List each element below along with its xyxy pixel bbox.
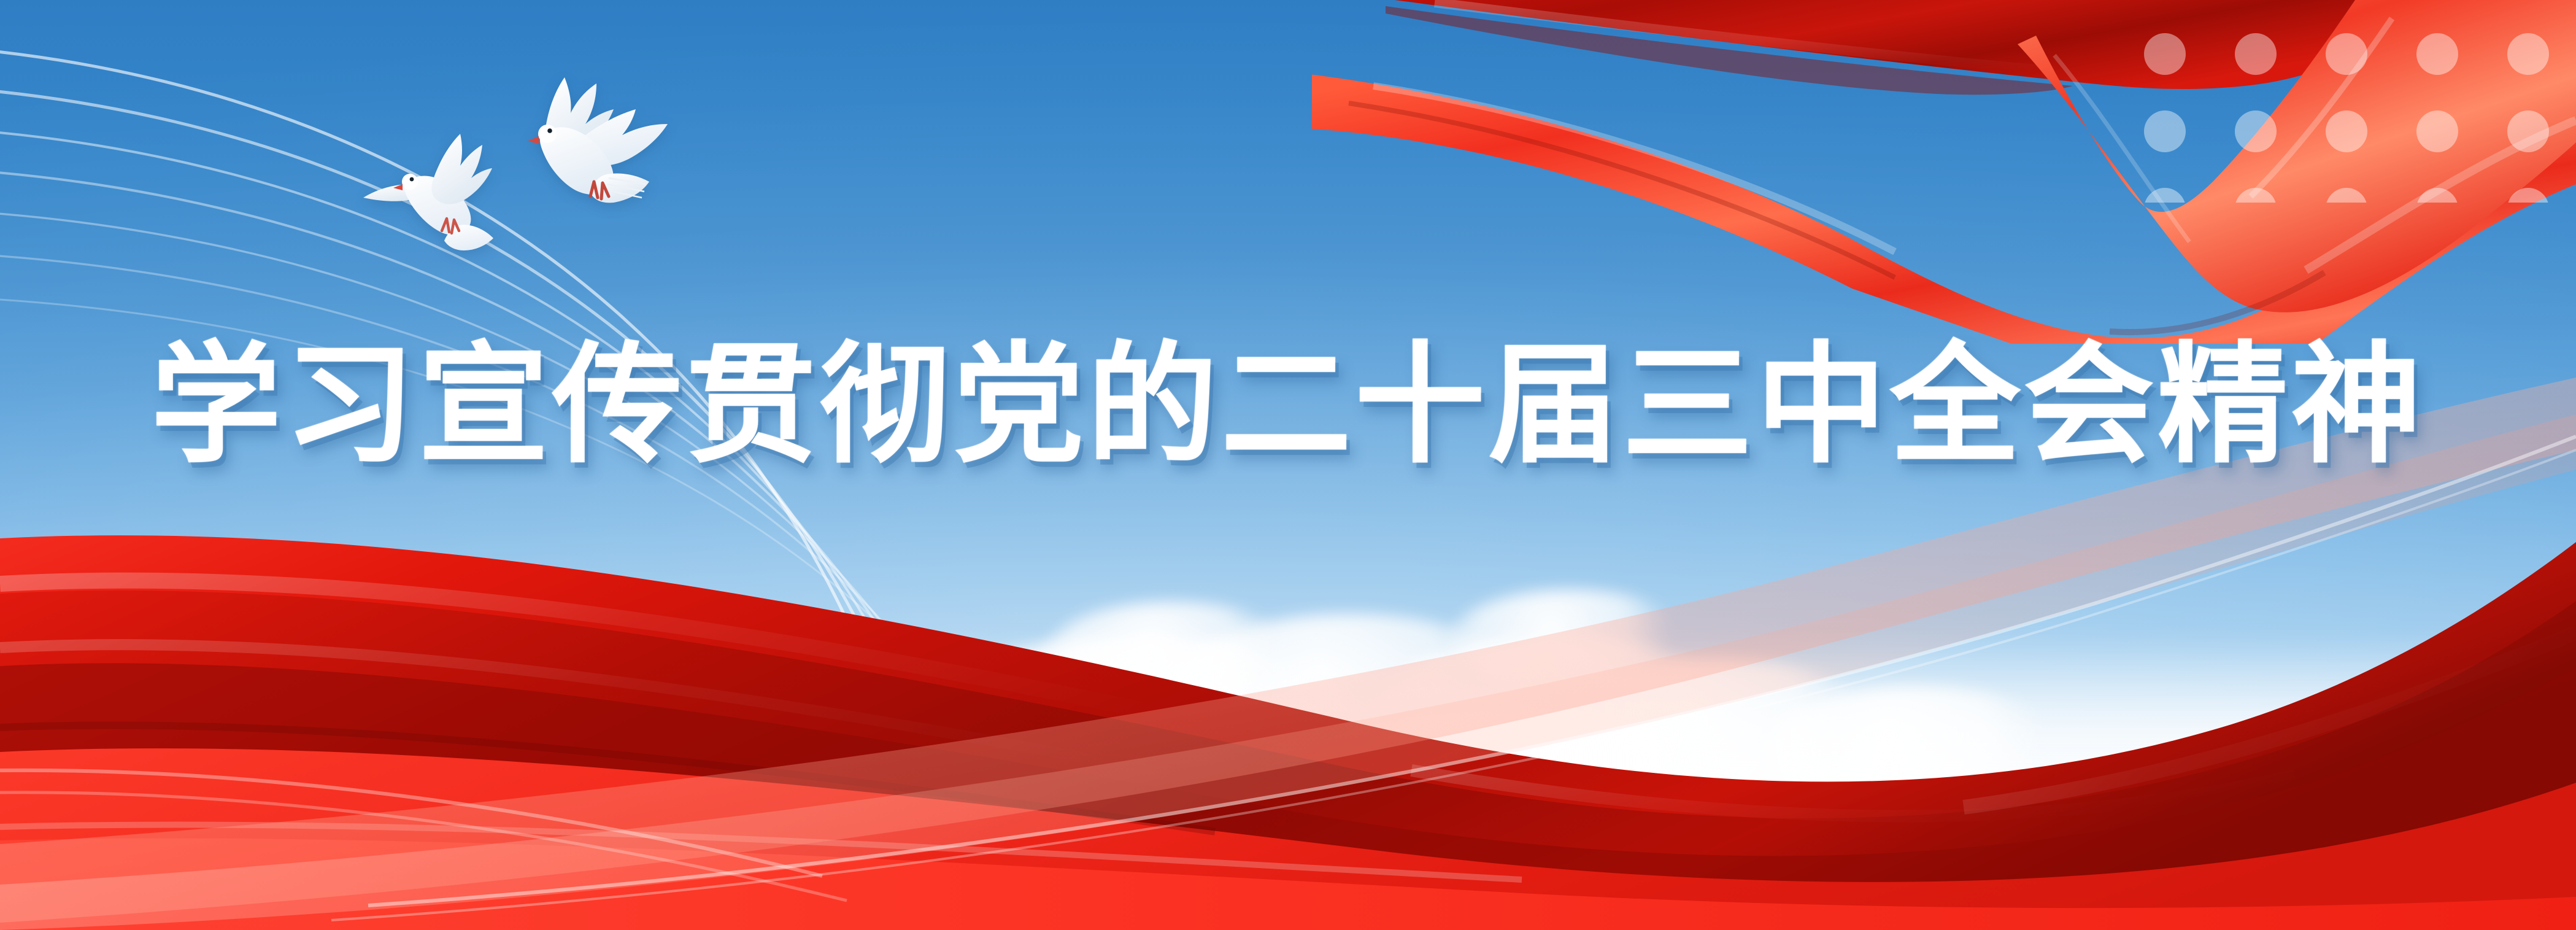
overlay-dot (2326, 33, 2367, 75)
overlay-dot (2507, 188, 2549, 203)
overlay-dot (2507, 110, 2549, 152)
overlay-dot (2416, 110, 2458, 152)
arc-line (0, 166, 1019, 884)
overlay-dot (2326, 110, 2367, 152)
cloud-puff (724, 668, 1068, 808)
silk-ribbon (1312, 0, 2576, 344)
overlay-dot (2144, 110, 2186, 152)
overlay-dot (2144, 33, 2186, 75)
cloud-puff (1546, 659, 1890, 807)
overlay-dot (2416, 188, 2458, 203)
cloud-puff (1043, 602, 1301, 712)
overlay-dot (2144, 188, 2186, 203)
dove-icon (488, 66, 691, 223)
cloud-puff (822, 718, 1325, 859)
banner-root: 学习宣传贯彻党的二十届三中全会精神 (0, 0, 2576, 930)
arc-line (0, 83, 961, 884)
overlay-dot (2326, 188, 2367, 203)
cloud-puff (1154, 614, 1546, 798)
cloud-puff (1448, 589, 1694, 694)
dove-icon (355, 115, 539, 257)
cloud-puff (1755, 686, 2074, 821)
arc-line (0, 125, 989, 884)
cloud-band (0, 635, 2576, 838)
cloud-puff (1362, 637, 1755, 803)
overlay-dot (2235, 110, 2277, 152)
cloud-puff (1240, 706, 1792, 859)
dot-grid-overlay (2122, 0, 2576, 203)
banner-title-wrap: 学习宣传贯彻党的二十届三中全会精神 (0, 341, 2576, 471)
overlay-dot (2235, 33, 2277, 75)
overlay-dot (2235, 188, 2277, 203)
red-silk-waves (0, 463, 2576, 930)
overlay-dot (2416, 33, 2458, 75)
overlay-dot (2507, 33, 2549, 75)
arc-line (0, 207, 1048, 884)
page-title: 学习宣传贯彻党的二十届三中全会精神 (151, 341, 2425, 471)
cloud-puff (920, 636, 1350, 808)
cloud-puff (540, 724, 884, 847)
